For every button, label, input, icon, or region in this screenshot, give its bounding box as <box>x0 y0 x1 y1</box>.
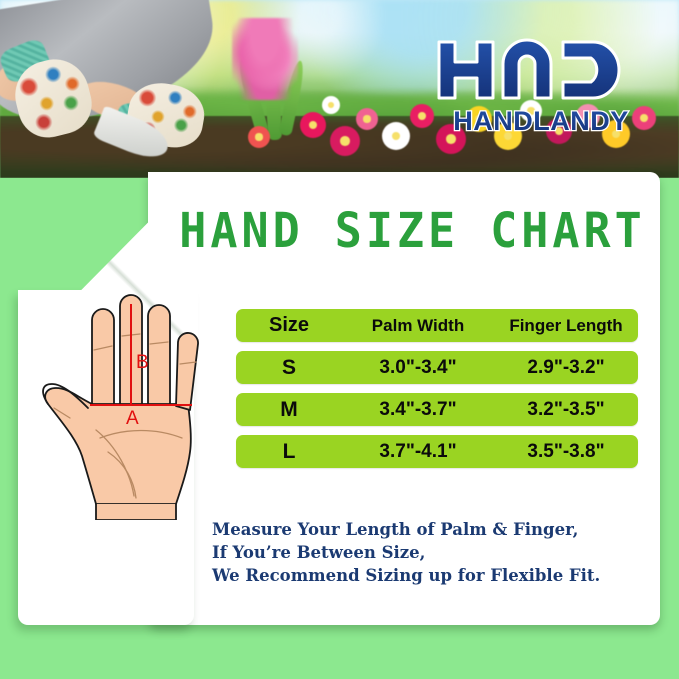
cell-finger-length: 3.2"-3.5" <box>494 399 638 421</box>
value-palm-width: 3.0"-3.4" <box>379 357 456 378</box>
finger-pinky <box>176 333 198 410</box>
table-row: M 3.4"-3.7" 3.2"-3.5" <box>236 393 638 426</box>
flower <box>382 122 410 150</box>
wrist-shape <box>96 504 176 520</box>
hyacinth-flower <box>232 18 298 100</box>
header-cell-size: Size <box>236 314 342 337</box>
cell-palm-width: 3.7"-4.1" <box>342 441 494 463</box>
flower <box>322 96 340 114</box>
value-finger-length: 3.2"-3.5" <box>527 399 604 420</box>
hand-measurement-diagram: B A <box>30 292 236 520</box>
header-label-finger-length: Finger Length <box>509 316 622 335</box>
table-header-row: Size Palm Width Finger Length <box>236 309 638 342</box>
flower <box>410 104 434 128</box>
logo-mark-group <box>439 40 619 98</box>
cell-palm-width: 3.4"-3.7" <box>342 399 494 421</box>
value-palm-width: 3.7"-4.1" <box>379 441 456 462</box>
logo-letter-a <box>503 40 551 98</box>
cell-finger-length: 3.5"-3.8" <box>494 441 638 463</box>
sizing-note-line-2: If You’re Between Size, <box>212 541 642 564</box>
flower <box>356 108 378 130</box>
cell-size: L <box>236 440 342 464</box>
table-row: S 3.0"-3.4" 2.9"-3.2" <box>236 351 638 384</box>
value-size: L <box>283 440 296 463</box>
label-finger-length: B <box>136 352 149 373</box>
brand-name: HANDLANDY <box>453 106 629 136</box>
cell-size: S <box>236 356 342 380</box>
flower <box>330 126 360 156</box>
label-palm-width: A <box>126 408 139 429</box>
size-table: Size Palm Width Finger Length S 3.0"-3.4… <box>236 309 638 468</box>
page-title: HAND SIZE CHART <box>0 202 679 258</box>
logo-letter-d <box>563 42 619 98</box>
header-cell-finger-length: Finger Length <box>494 316 638 336</box>
header-label-size: Size <box>269 314 309 336</box>
value-size: S <box>282 356 296 379</box>
value-finger-length: 2.9"-3.2" <box>527 357 604 378</box>
flower <box>248 126 270 148</box>
sizing-note: Measure Your Length of Palm & Finger, If… <box>212 518 642 587</box>
finger-index <box>92 309 114 404</box>
logo-letter-h <box>439 42 493 98</box>
cell-size: M <box>236 398 342 422</box>
cell-finger-length: 2.9"-3.2" <box>494 357 638 379</box>
value-palm-width: 3.4"-3.7" <box>379 399 456 420</box>
value-size: M <box>280 398 298 421</box>
brand-logo: HANDLANDY <box>433 36 649 136</box>
flower <box>300 112 326 138</box>
value-finger-length: 3.5"-3.8" <box>527 441 604 462</box>
header-label-palm-width: Palm Width <box>372 316 464 335</box>
table-row: L 3.7"-4.1" 3.5"-3.8" <box>236 435 638 468</box>
header-cell-palm-width: Palm Width <box>342 316 494 336</box>
finger-ring <box>148 305 170 404</box>
sizing-note-line-3: We Recommend Sizing up for Flexible Fit. <box>212 564 642 587</box>
size-chart-canvas: HANDLANDY HAND SIZE CHART <box>0 0 679 679</box>
cell-palm-width: 3.0"-3.4" <box>342 357 494 379</box>
sizing-note-line-1: Measure Your Length of Palm & Finger, <box>212 518 642 541</box>
